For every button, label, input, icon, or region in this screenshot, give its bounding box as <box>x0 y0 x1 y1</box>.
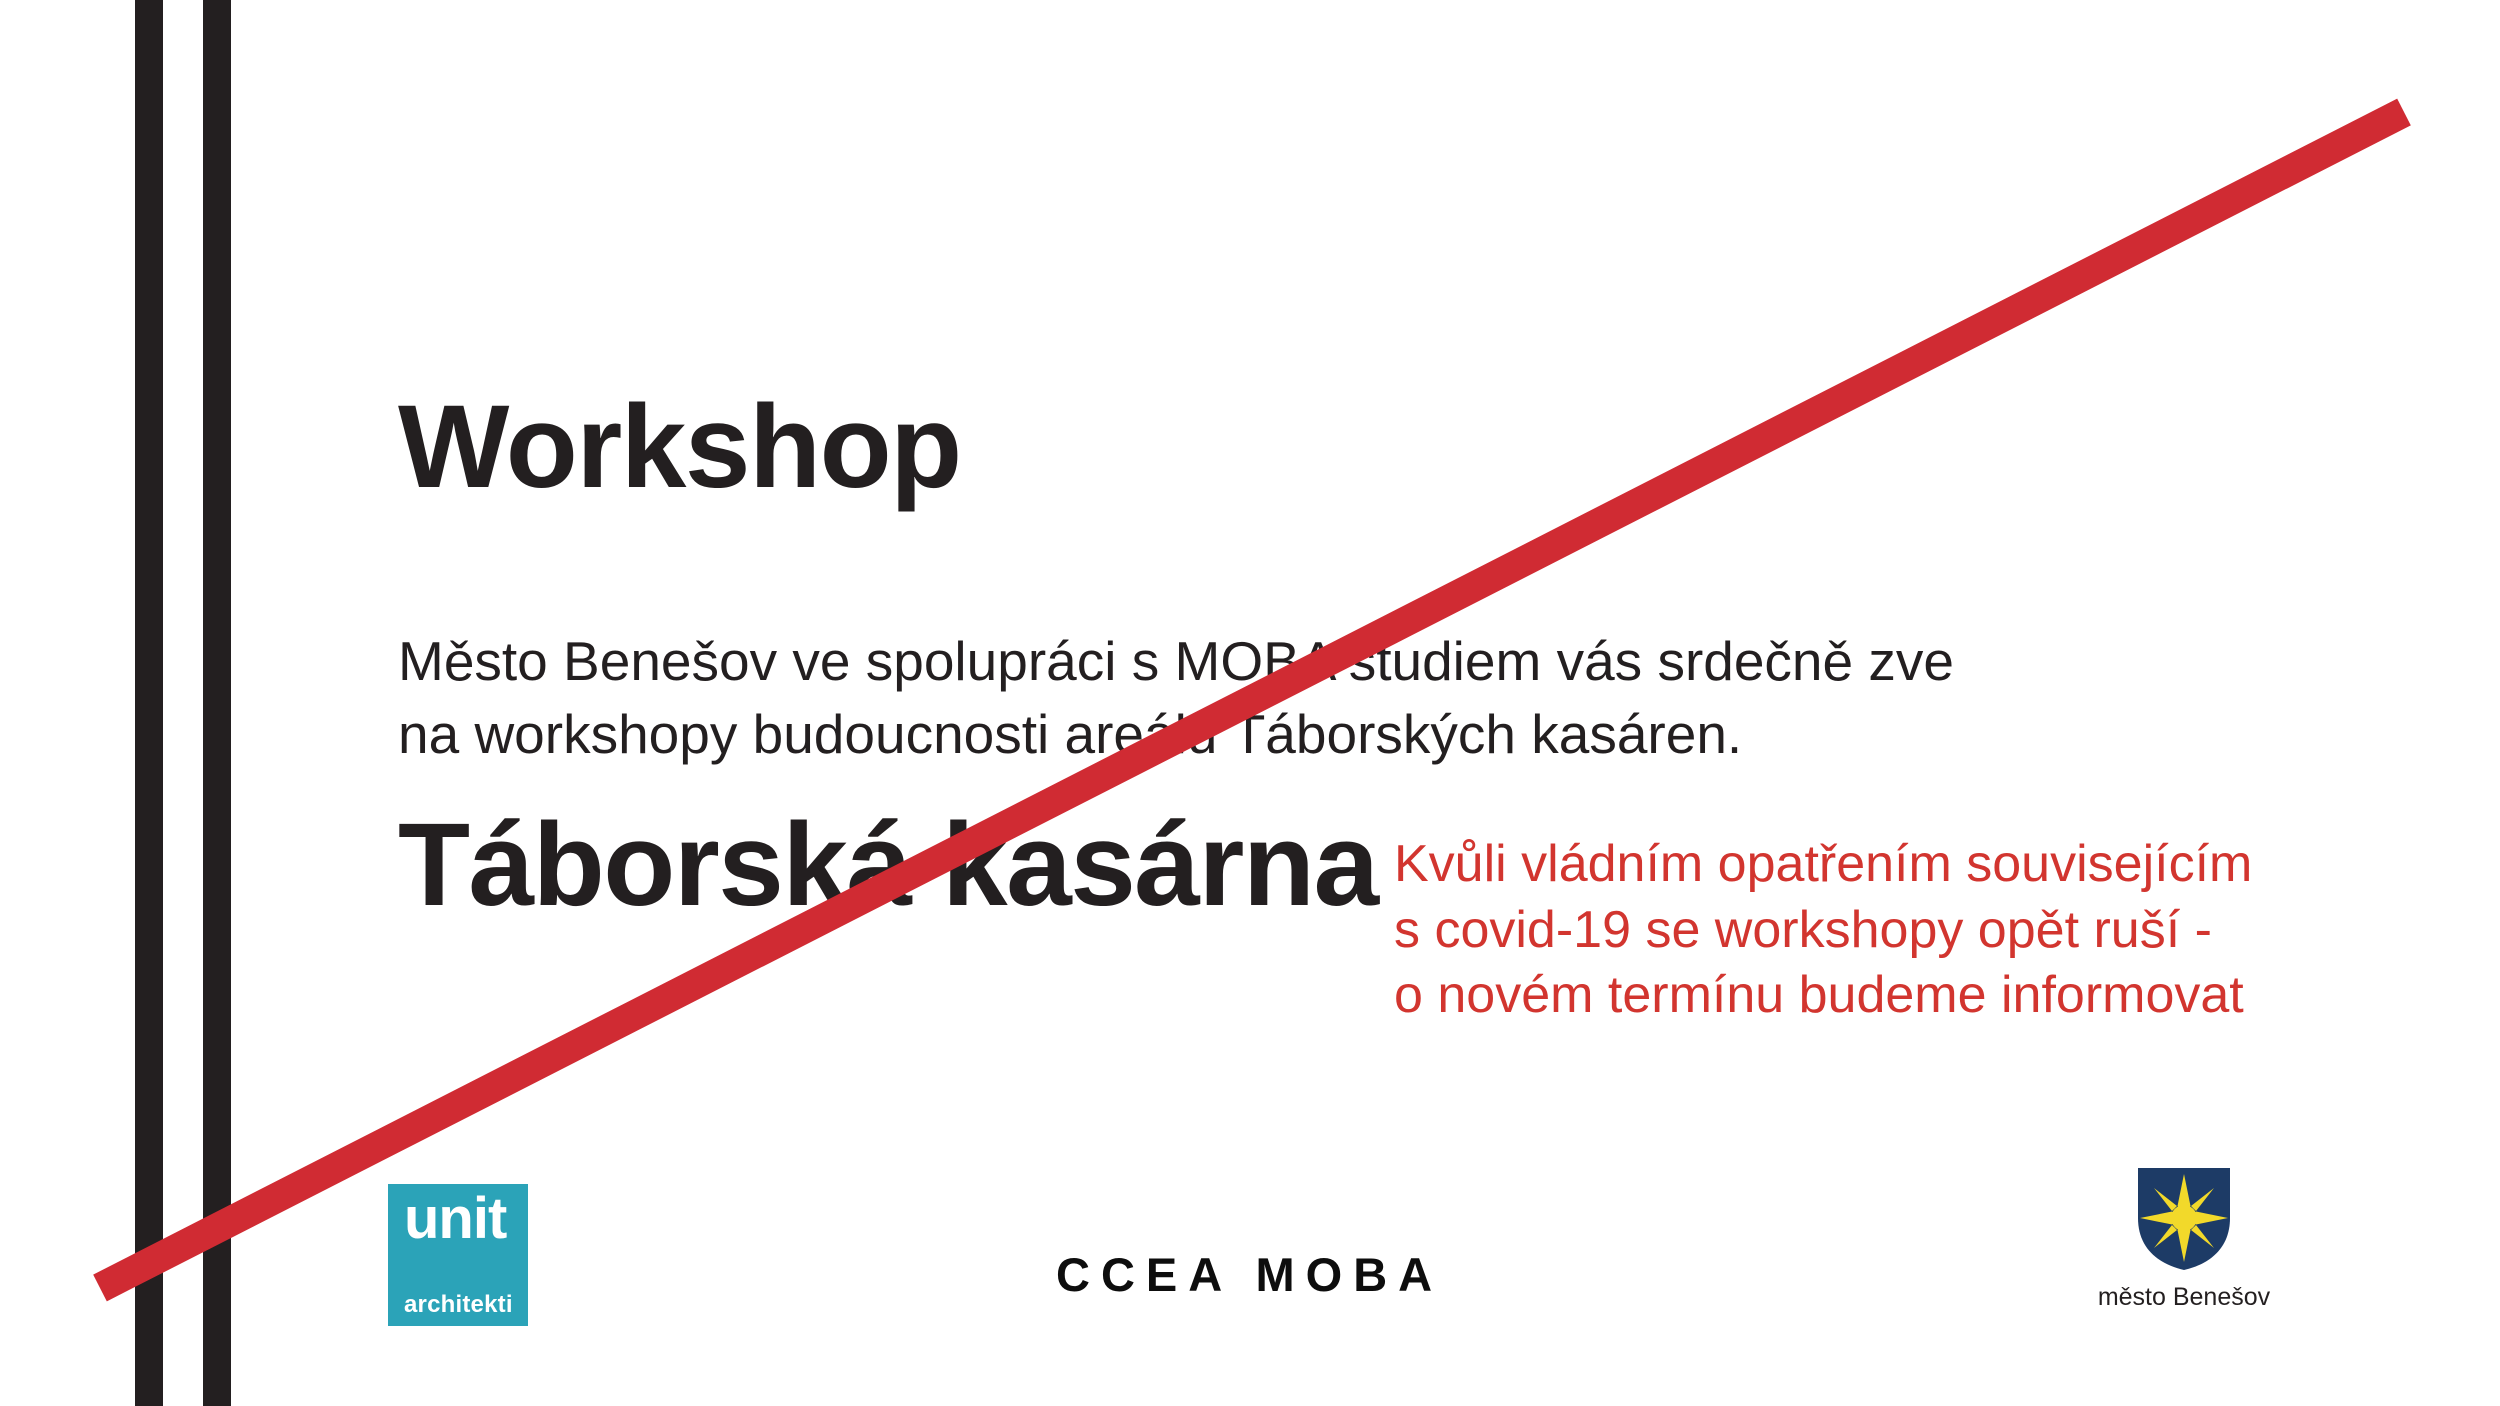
notice-line-1: Kvůli vládním opatřením souvisejícím <box>1394 832 2464 898</box>
logo-ccea-moba: CCEA MOBA <box>1056 1251 1443 1298</box>
unit-logo-subtitle: architekti <box>404 1293 513 1317</box>
intro-paragraph: Město Benešov ve spolupráci s MOBA studi… <box>398 625 1958 771</box>
vertical-bar-left <box>135 0 163 1406</box>
title-line-1: Workshop <box>398 378 1998 517</box>
cancellation-notice: Kvůli vládním opatřením souvisejícím s c… <box>1394 832 2464 1029</box>
unit-logo-word: unit <box>404 1190 506 1248</box>
logo-unit-architekti: unit architekti <box>388 1184 528 1326</box>
poster-canvas: Workshop Táborská kasárna Město Benešov … <box>0 0 2500 1406</box>
notice-line-2: s covid-19 se workshopy opět ruší - <box>1394 898 2464 964</box>
logo-mesto-benesov: město Benešov <box>2054 1166 2314 1310</box>
benesov-label: město Benešov <box>2054 1285 2314 1310</box>
vertical-bar-right <box>203 0 231 1406</box>
notice-line-3: o novém termínu budeme informovat <box>1394 963 2464 1029</box>
benesov-coat-of-arms-icon <box>2136 1166 2232 1272</box>
